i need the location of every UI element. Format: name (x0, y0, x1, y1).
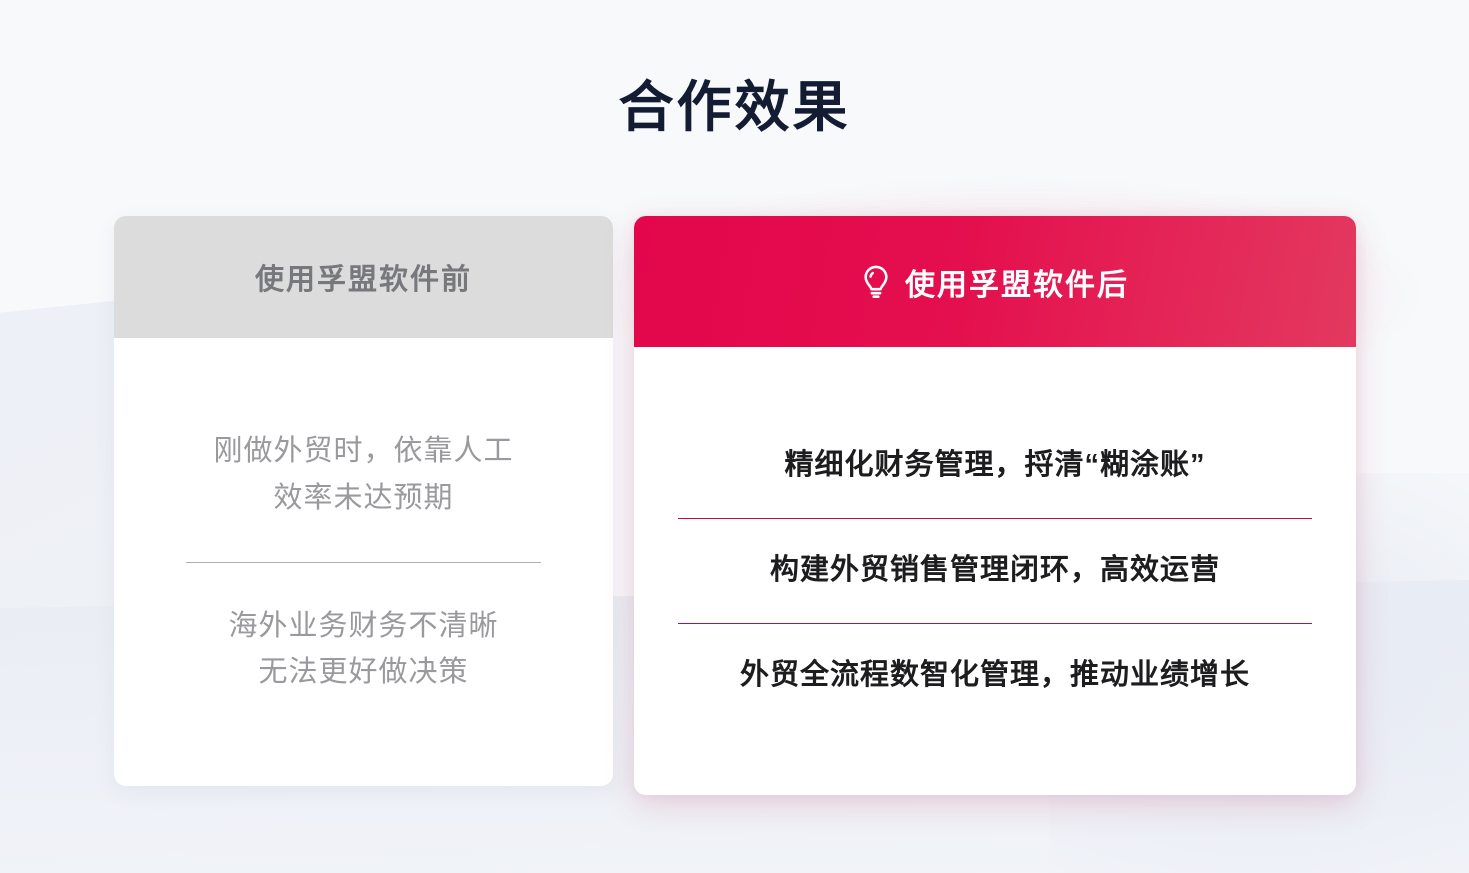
before-item-2-line-1: 海外业务财务不清晰 (152, 603, 575, 650)
page-title: 合作效果 (0, 62, 1469, 142)
card-after-usage: 使用孚盟软件后 精细化财务管理，捋清“糊涂账” 构建外贸销售管理闭环，高效运营 … (634, 216, 1356, 795)
list-item: 精细化财务管理，捋清“糊涂账” (674, 414, 1316, 518)
card-before-usage: 使用孚盟软件前 刚做外贸时，依靠人工 效率未达预期 海外业务财务不清晰 无法更好… (114, 216, 613, 786)
card-before-header: 使用孚盟软件前 (114, 216, 613, 338)
list-item: 构建外贸销售管理闭环，高效运营 (674, 519, 1316, 623)
card-after-body: 精细化财务管理，捋清“糊涂账” 构建外贸销售管理闭环，高效运营 外贸全流程数智化… (634, 347, 1356, 795)
before-item-1-line-2: 效率未达预期 (152, 475, 575, 522)
comparison-cards: 使用孚盟软件前 刚做外贸时，依靠人工 效率未达预期 海外业务财务不清晰 无法更好… (0, 216, 1469, 816)
lightbulb-icon (861, 265, 891, 299)
card-after-header-label: 使用孚盟软件后 (905, 260, 1129, 304)
list-item: 海外业务财务不清晰 无法更好做决策 (152, 585, 575, 715)
list-item: 刚做外贸时，依靠人工 效率未达预期 (152, 410, 575, 540)
card-after-header: 使用孚盟软件后 (634, 216, 1356, 347)
card-before-body: 刚做外贸时，依靠人工 效率未达预期 海外业务财务不清晰 无法更好做决策 (114, 338, 613, 786)
before-item-1-line-1: 刚做外贸时，依靠人工 (152, 428, 575, 475)
list-item: 外贸全流程数智化管理，推动业绩增长 (674, 624, 1316, 728)
before-item-2-line-2: 无法更好做决策 (152, 649, 575, 696)
card-before-header-label: 使用孚盟软件前 (255, 256, 472, 298)
divider-before (186, 562, 541, 563)
